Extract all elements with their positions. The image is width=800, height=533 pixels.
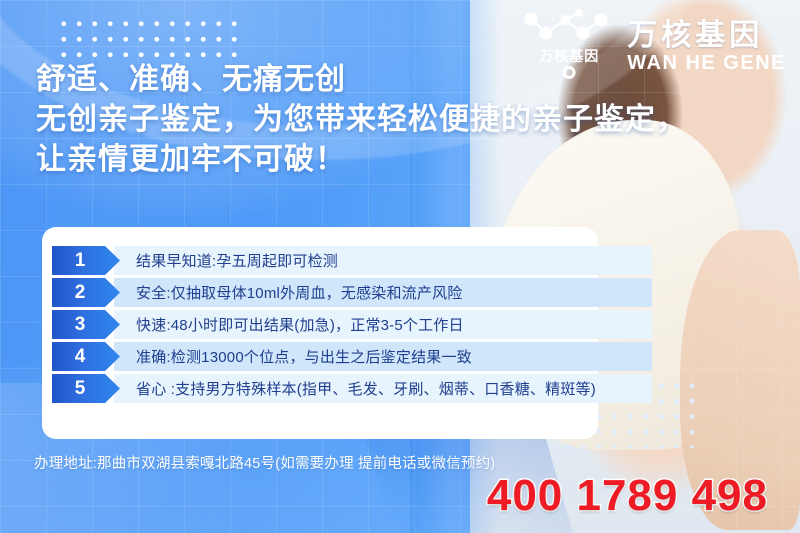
headline-line-1: 舒适、准确、无痛无创 [36,60,596,100]
list-item: 3 快速:48小时即可出结果(加急)，正常3-5个工作日 [52,310,652,339]
list-item: 1 结果早知道:孕五周起即可检测 [52,246,652,275]
feature-number-badge: 4 [52,342,120,371]
phone-number: 400 1789 498 [487,471,768,521]
list-item: 5 省心 :支持男方特殊样本(指甲、毛发、牙刷、烟蒂、口香糖、精斑等) [52,374,652,403]
feature-list: 1 结果早知道:孕五周起即可检测 2 安全:仅抽取母体10ml外周血，无感染和流… [52,246,652,403]
feature-text: 省心 :支持男方特殊样本(指甲、毛发、牙刷、烟蒂、口香糖、精斑等) [114,374,652,403]
brand-name-cn: 万核基因 [627,20,763,52]
feature-text: 准确:检测13000个位点，与出生之后鉴定结果一致 [114,342,652,371]
feature-number-badge: 3 [52,310,120,339]
feature-number-badge: 1 [52,246,120,275]
feature-text: 快速:48小时即可出结果(加急)，正常3-5个工作日 [114,310,652,339]
feature-number-badge: 5 [52,374,120,403]
brand-name-en: WAN HE GENE [627,52,786,74]
address-text: 办理地址:那曲市双湖县索嘎北路45号(如需要办理 提前电话或微信预约) [34,452,495,473]
headline-line-3: 让亲情更加牢不可破！ [36,140,596,180]
dot-pattern-top-left [56,16,244,62]
list-item: 4 准确:检测13000个位点，与出生之后鉴定结果一致 [52,342,652,371]
feature-text: 结果早知道:孕五周起即可检测 [114,246,652,275]
list-item: 2 安全:仅抽取母体10ml外周血，无感染和流产风险 [52,278,652,307]
feature-text: 安全:仅抽取母体10ml外周血，无感染和流产风险 [114,278,652,307]
feature-number-badge: 2 [52,278,120,307]
brand-wordmark: 万核基因 WAN HE GENE [627,16,786,75]
headline-line-2: 无创亲子鉴定，为您带来轻松便捷的亲子鉴定， [36,100,596,140]
promo-banner: 万核基因 万核基因 WAN HE GENE 舒适、准确、无痛无创 无创亲子鉴定，… [0,0,800,533]
headline-block: 舒适、准确、无痛无创 无创亲子鉴定，为您带来轻松便捷的亲子鉴定， 让亲情更加牢不… [36,60,596,180]
